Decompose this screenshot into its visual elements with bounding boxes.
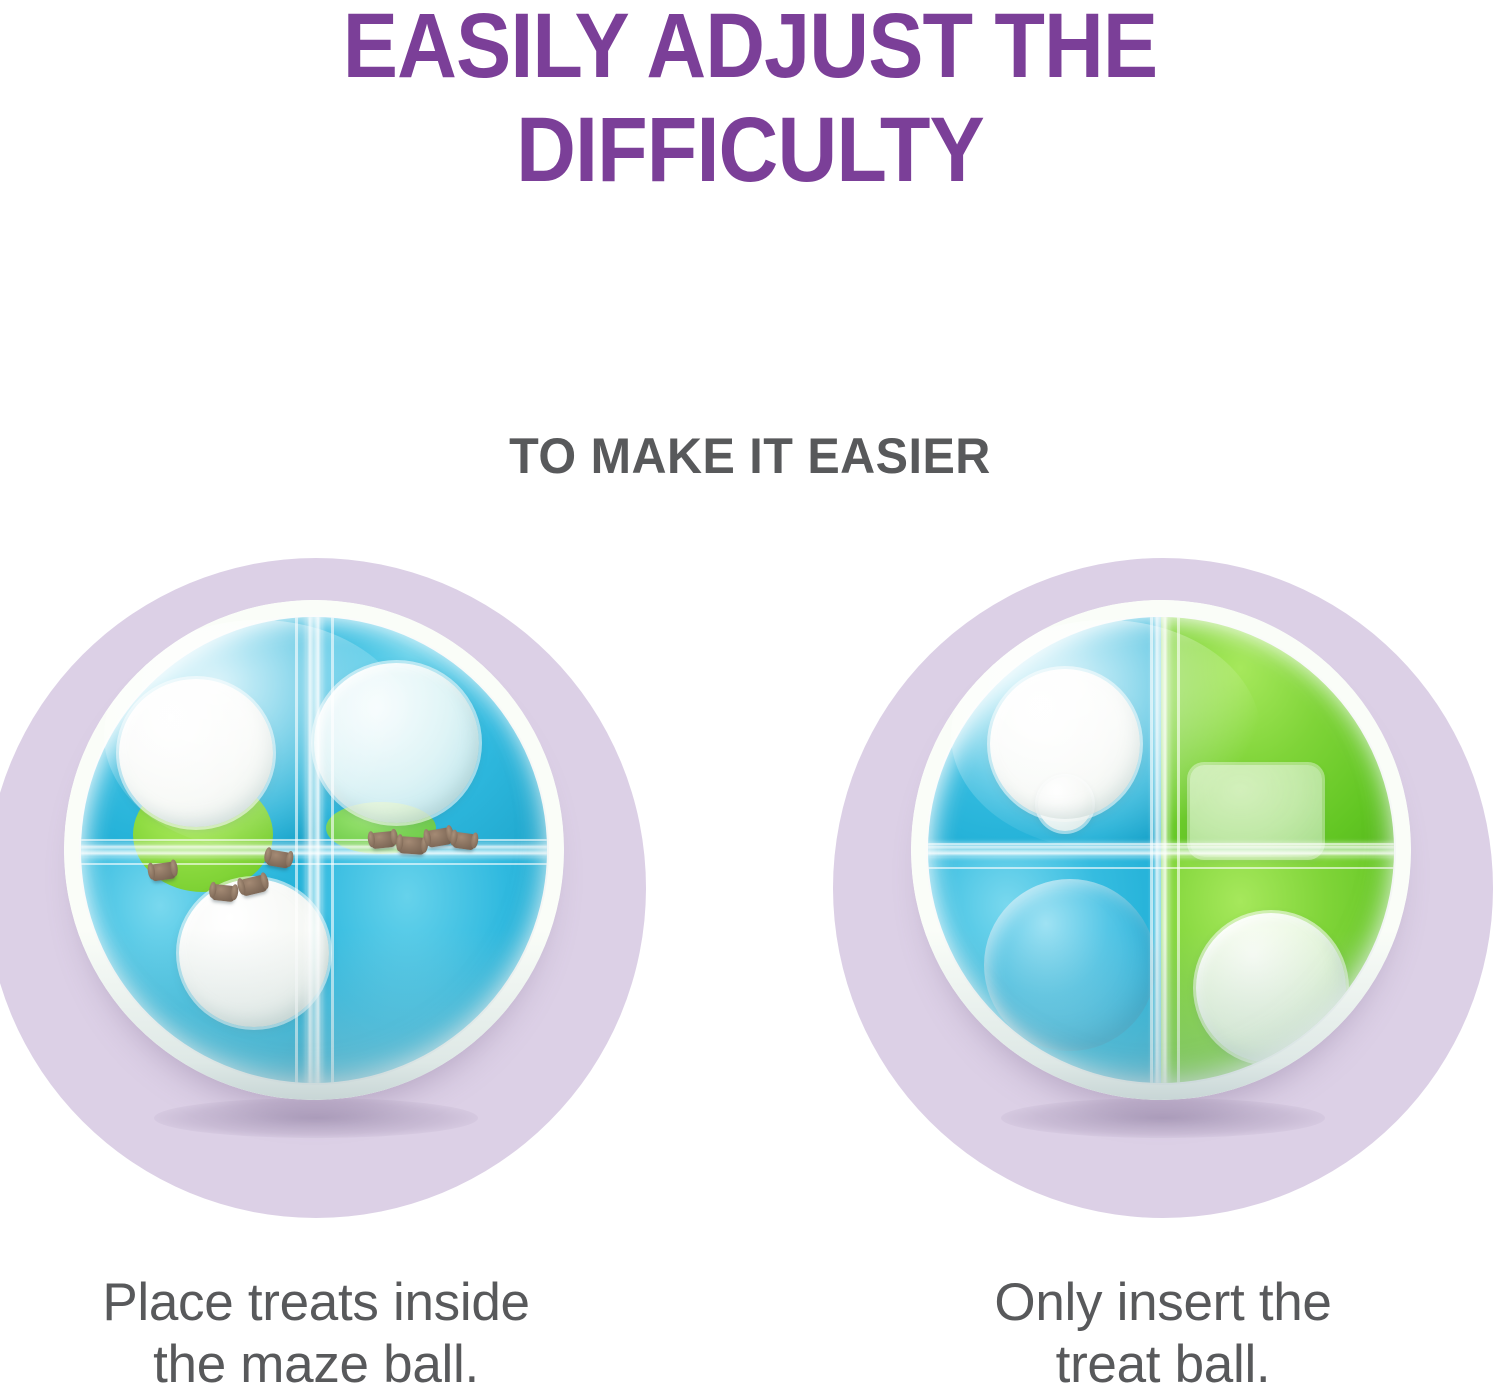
- panel-maze-ball-with-treats: [0, 558, 646, 1218]
- seam-line-upper: [928, 843, 1394, 845]
- compartment-bottom-right: [314, 850, 547, 1083]
- treat-kibble: [211, 884, 236, 902]
- page-subtitle: TO MAKE IT EASIER: [23, 428, 1478, 484]
- maze-opening-top-right-shading: [314, 663, 479, 823]
- ball-contact-shadow: [154, 1098, 478, 1138]
- divider-horizontal: [81, 844, 547, 857]
- treat-kibble: [370, 831, 396, 849]
- treat-kibble: [452, 832, 476, 851]
- page-headline: EASILY ADJUST THE DIFFICULTY: [75, 0, 1425, 202]
- ball-contact-shadow: [1001, 1098, 1325, 1138]
- headline-line-2: DIFFICULTY: [75, 98, 1425, 202]
- seam-line-right: [1177, 617, 1180, 1083]
- product-image-maze-ball-with-treats: [64, 600, 564, 1100]
- caption-line-1: Place treats inside: [0, 1272, 646, 1334]
- caption-line-2: the maze ball.: [0, 1334, 646, 1396]
- maze-opening-top-left-shading: [990, 669, 1140, 819]
- maze-opening-bottom-right-shading: [1196, 913, 1346, 1063]
- panel-treat-ball-only: [833, 558, 1493, 1218]
- ball-inner-core: [928, 617, 1394, 1083]
- seam-line-left: [295, 617, 298, 1083]
- seam-line-lower: [928, 867, 1394, 869]
- caption-maze-ball-with-treats: Place treats inside the maze ball.: [0, 1272, 646, 1396]
- headline-line-1: EASILY ADJUST THE: [75, 0, 1425, 98]
- seam-line-right: [331, 617, 334, 1083]
- treat-kibble: [150, 861, 176, 881]
- ball-inner-core: [81, 617, 547, 1083]
- treat-kibble: [398, 836, 425, 855]
- divider-horizontal: [928, 844, 1394, 857]
- maze-opening-top-left-shading: [119, 679, 273, 827]
- caption-treat-ball-only: Only insert the treat ball.: [833, 1272, 1493, 1396]
- caption-line-2: treat ball.: [833, 1334, 1493, 1396]
- seam-line-left: [1150, 617, 1153, 1083]
- blue-treat-ball: [984, 879, 1156, 1051]
- caption-line-1: Only insert the: [833, 1272, 1493, 1334]
- product-image-treat-ball-only: [911, 600, 1411, 1100]
